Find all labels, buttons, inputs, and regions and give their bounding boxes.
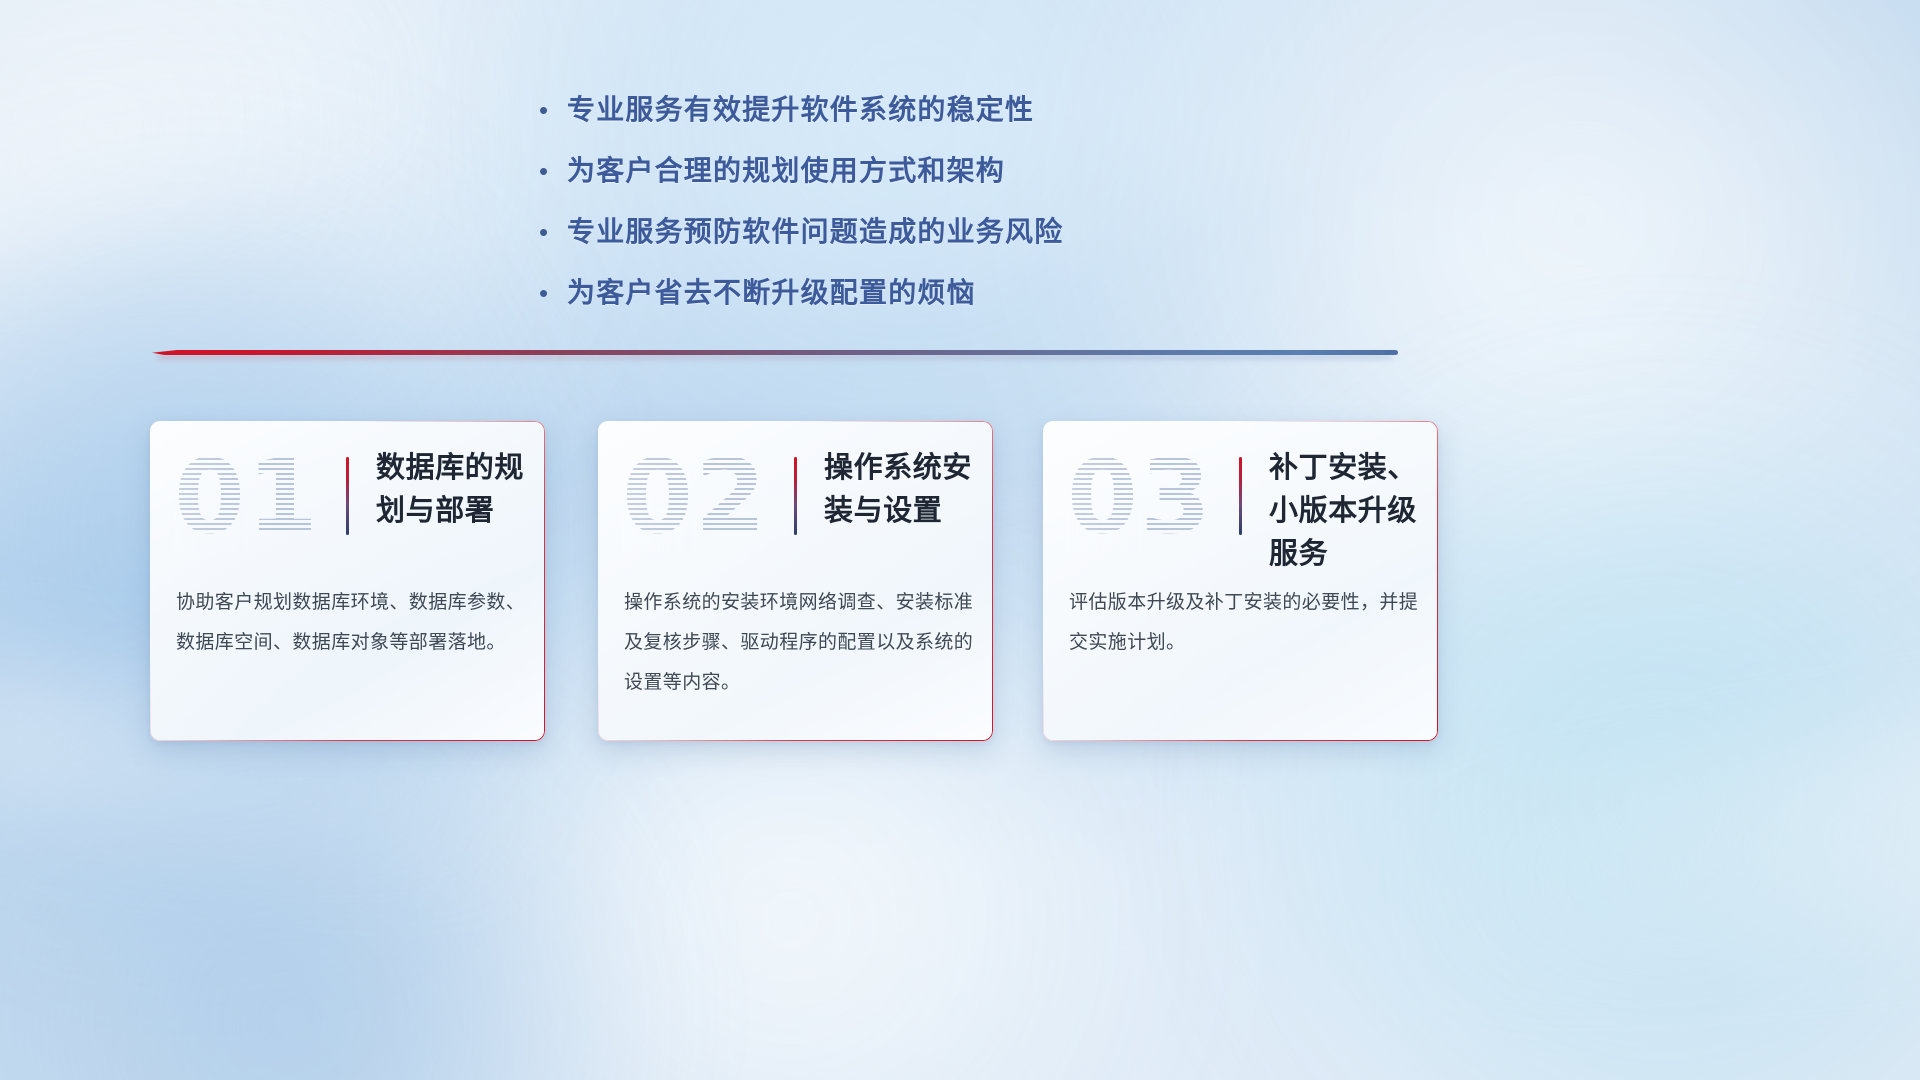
service-card[interactable]: 02 操作系统安装与设置 操作系统的安装环境网络调查、安装标准及复核步骤、驱动程… — [598, 421, 993, 741]
bullet-text: 专业服务预防软件问题造成的业务风险 — [567, 210, 1063, 254]
card-body-text: 评估版本升级及补丁安装的必要性，并提交实施计划。 — [1069, 583, 1419, 663]
card-body-text: 协助客户规划数据库环境、数据库参数、数据库空间、数据库对象等部署落地。 — [176, 583, 526, 663]
card-body-text: 操作系统的安装环境网络调查、安装标准及复核步骤、驱动程序的配置以及系统的设置等内… — [624, 583, 974, 703]
title-divider-bar-icon — [1239, 457, 1242, 535]
divider-line — [152, 350, 1398, 355]
card-header: 01 数据库的规划与部署 — [150, 421, 545, 571]
divider-shadow — [158, 355, 1392, 359]
card-number-watermark: 03 — [1067, 443, 1217, 553]
card-title: 操作系统安装与设置 — [824, 447, 974, 533]
title-divider-bar-icon — [794, 457, 797, 535]
bullet-dot-icon: • — [533, 210, 567, 254]
bullet-dot-icon: • — [533, 149, 567, 193]
card-header: 02 操作系统安装与设置 — [598, 421, 993, 571]
card-title: 补丁安装、小版本升级服务 — [1269, 447, 1419, 576]
service-card[interactable]: 03 补丁安装、小版本升级服务 评估版本升级及补丁安装的必要性，并提交实施计划。 — [1043, 421, 1438, 741]
card-header: 03 补丁安装、小版本升级服务 — [1043, 421, 1438, 571]
service-card-row: 01 数据库的规划与部署 协助客户规划数据库环境、数据库参数、数据库空间、数据库… — [150, 421, 1450, 743]
list-item: • 为客户省去不断升级配置的烦恼 — [533, 271, 1293, 315]
card-number-watermark: 01 — [174, 443, 324, 553]
title-divider-bar-icon — [346, 457, 349, 535]
bullet-text: 为客户合理的规划使用方式和架构 — [567, 149, 1005, 193]
service-card[interactable]: 01 数据库的规划与部署 协助客户规划数据库环境、数据库参数、数据库空间、数据库… — [150, 421, 545, 741]
list-item: • 专业服务有效提升软件系统的稳定性 — [533, 88, 1293, 132]
card-number-watermark: 02 — [622, 443, 772, 553]
card-title: 数据库的规划与部署 — [376, 447, 526, 533]
bullet-text: 专业服务有效提升软件系统的稳定性 — [567, 88, 1034, 132]
list-item: • 为客户合理的规划使用方式和架构 — [533, 149, 1293, 193]
benefits-bullet-list: • 专业服务有效提升软件系统的稳定性 • 为客户合理的规划使用方式和架构 • 专… — [533, 88, 1293, 332]
section-divider — [152, 350, 1398, 362]
list-item: • 专业服务预防软件问题造成的业务风险 — [533, 210, 1293, 254]
bullet-dot-icon: • — [533, 271, 567, 315]
bullet-dot-icon: • — [533, 88, 567, 132]
bullet-text: 为客户省去不断升级配置的烦恼 — [567, 271, 976, 315]
